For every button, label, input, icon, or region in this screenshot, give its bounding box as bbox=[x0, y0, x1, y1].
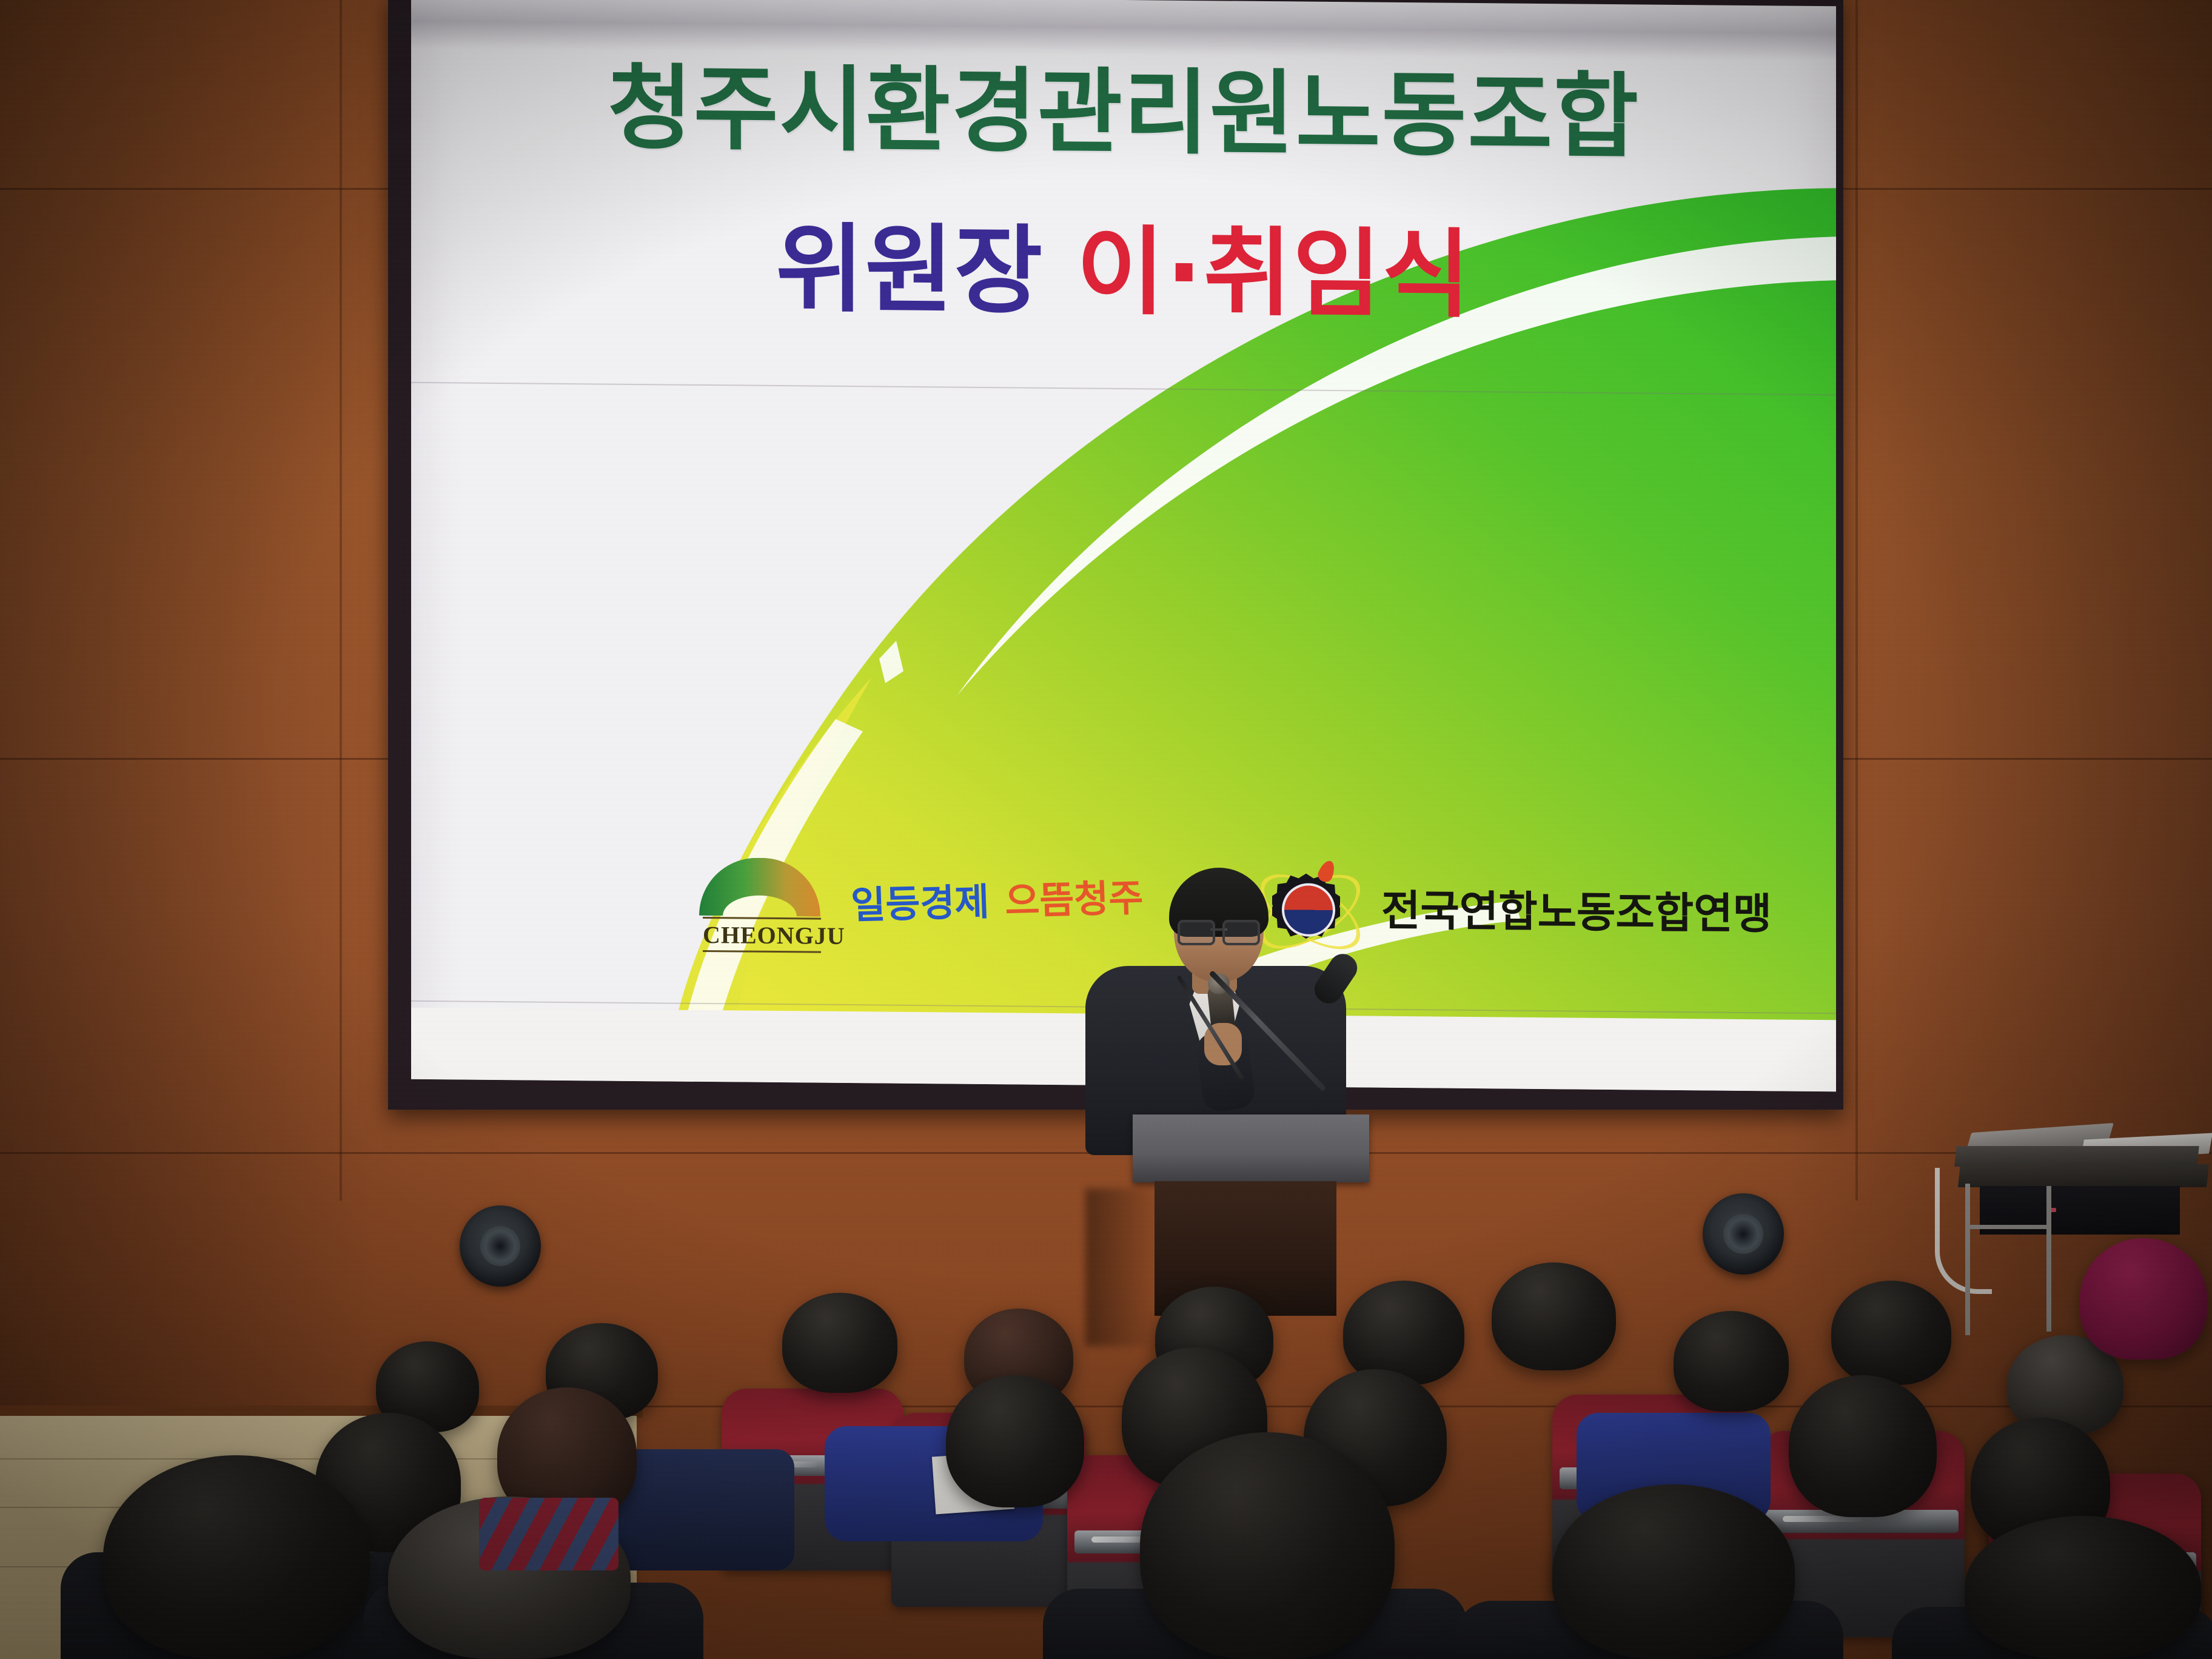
banner-title-role: 위원장 bbox=[776, 213, 1044, 327]
audience-head-front bbox=[1140, 1432, 1395, 1659]
audience-head bbox=[1674, 1311, 1789, 1412]
audience-head-front bbox=[103, 1455, 370, 1659]
slogan-primary: 일등경제 bbox=[850, 880, 990, 928]
audience-head bbox=[1492, 1262, 1616, 1370]
cart-leg bbox=[2046, 1186, 2051, 1332]
striped-scarf bbox=[479, 1498, 618, 1570]
cart-top-shelf bbox=[1954, 1146, 2199, 1167]
audience-head bbox=[1343, 1281, 1464, 1385]
cheongju-arc-icon bbox=[699, 857, 820, 917]
audience-jacket bbox=[612, 1449, 794, 1570]
wall-speaker-right bbox=[1703, 1193, 1784, 1275]
banner-title-line2: 위원장이·취임식 bbox=[411, 188, 1836, 340]
cheongju-city-logo: CHEONGJU bbox=[699, 857, 826, 950]
event-photo-scene: 청주시환경관리원노동조합 위원장이·취임식 CHEONGJU 일등경제으뜸청주 … bbox=[0, 0, 2212, 1659]
cheongju-wordmark: CHEONGJU bbox=[703, 917, 821, 953]
glasses-icon bbox=[1178, 920, 1260, 940]
audience-head-front bbox=[1965, 1516, 2201, 1659]
audience-head bbox=[1789, 1375, 1937, 1517]
cart-rail bbox=[1965, 1225, 2050, 1229]
audience-head bbox=[782, 1293, 897, 1393]
banner-title-ceremony: 이·취임식 bbox=[1076, 216, 1471, 331]
wall-speaker-left bbox=[460, 1205, 541, 1287]
podium bbox=[1133, 1114, 1369, 1315]
federation-name: 전국연합노동조합연맹 bbox=[1381, 877, 1772, 942]
cart-leg bbox=[1965, 1184, 1970, 1335]
cart-shelf bbox=[1958, 1164, 2209, 1187]
audience-head-front bbox=[1552, 1484, 1795, 1659]
boom-microphone-icon bbox=[1213, 970, 1382, 1128]
audience-head bbox=[946, 1375, 1084, 1507]
banner-title-line1: 청주시환경관리원노동조합 bbox=[411, 32, 1836, 178]
audience-head bbox=[1831, 1281, 1951, 1385]
podium-top bbox=[1133, 1114, 1369, 1182]
knit-hat bbox=[2080, 1238, 2207, 1359]
